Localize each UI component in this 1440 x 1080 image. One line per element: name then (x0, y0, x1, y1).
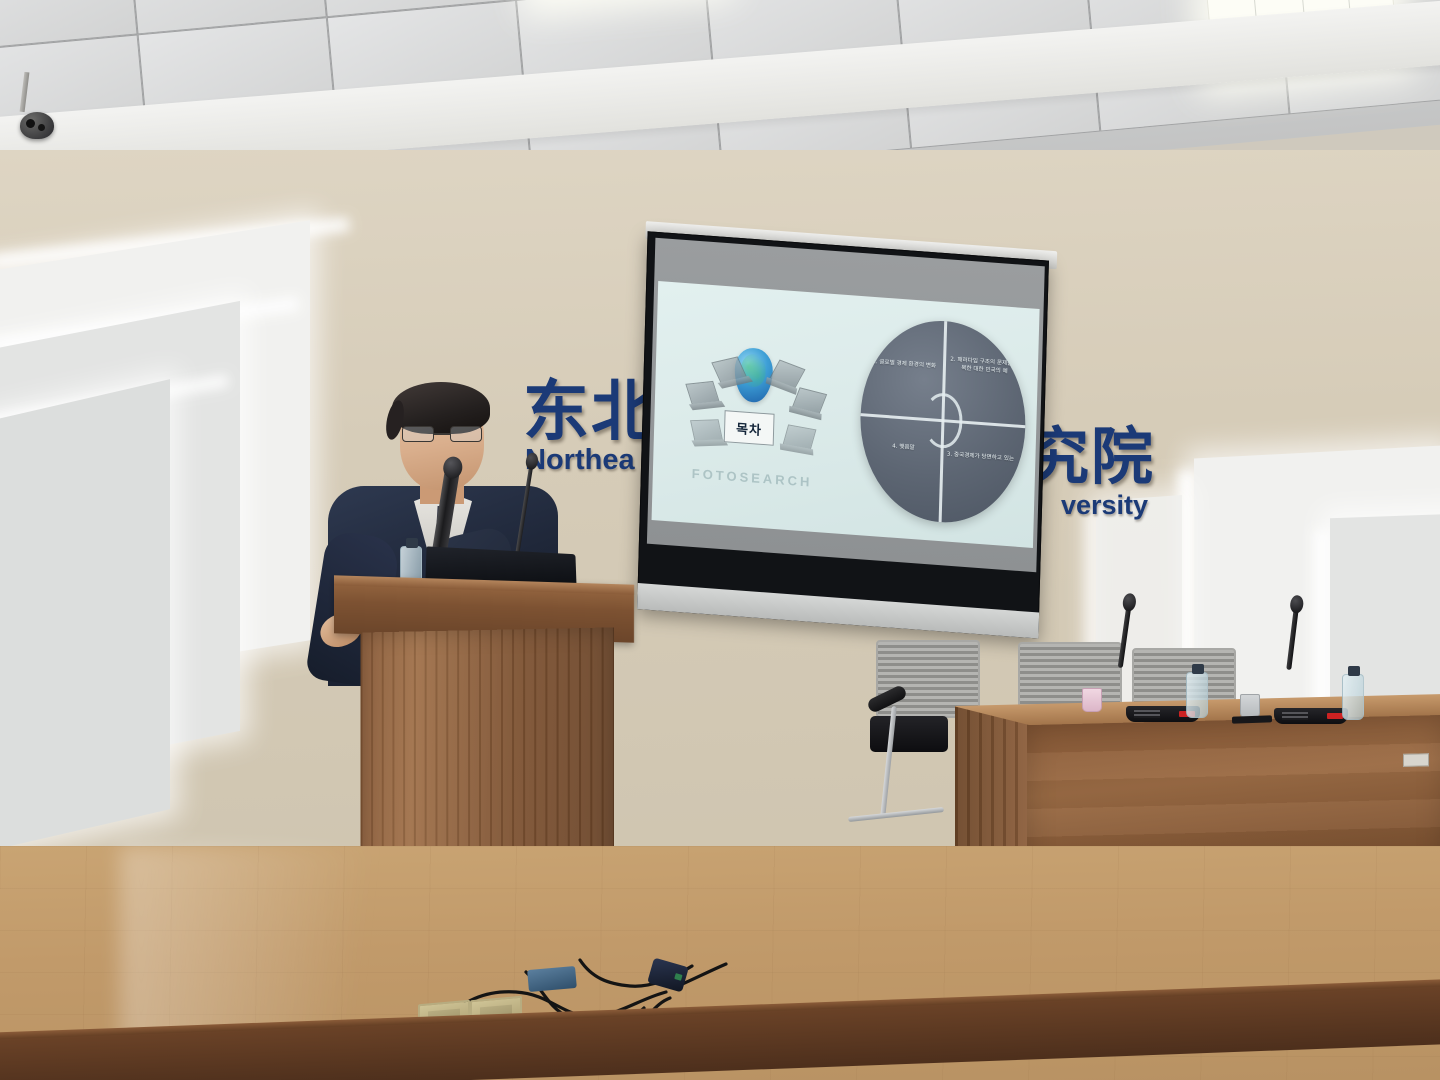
water-bottle (1186, 672, 1208, 718)
wheel-quadrant-top-left: 1. 글로벌 경제 환경의 변화 (869, 358, 940, 371)
wall-sign-roman-right: versity (1061, 490, 1148, 521)
eyeglasses-icon (402, 426, 482, 443)
gray-cup (1240, 694, 1260, 718)
lecture-hall-scene: 东北 Northea 究院 versity 목차 FOTOSEARCH (0, 0, 1440, 1080)
laptop-icon (769, 360, 806, 390)
wheel-quadrant-bottom-right: 3. 중국경제가 당면하고 있는 (945, 450, 1016, 463)
microphone-base (1274, 708, 1348, 724)
water-bottle (1342, 674, 1364, 720)
four-quadrant-wheel-diagram: 1. 글로벌 경제 환경의 변화 2. 패러다임 구조의 문제를 극복한 대한 … (858, 315, 1028, 528)
slide-watermark: FOTOSEARCH (679, 464, 824, 490)
toc-label-text: 목차 (736, 418, 762, 439)
toc-label-box: 목차 (724, 410, 774, 446)
power-adapter (527, 966, 577, 992)
laptop-icon (783, 424, 817, 450)
slide-network-graphic: 목차 FOTOSEARCH (680, 340, 829, 484)
table-label-plate (1403, 753, 1429, 767)
wheel-hub-icon (922, 392, 963, 449)
wall-panel-inner (0, 379, 170, 867)
laptop-icon (792, 387, 828, 415)
wheel-quadrant-top-right: 2. 패러다임 구조의 문제를 극복한 대한 민국의 예 (949, 356, 1020, 377)
pink-cup (1082, 688, 1102, 712)
remote-control (1232, 715, 1272, 723)
wheel-quadrant-bottom-left: 4. 맺음말 (868, 440, 939, 453)
chair-seat (870, 716, 948, 752)
laptop-icon (685, 380, 720, 405)
security-camera-icon (20, 112, 54, 139)
projected-slide: 목차 FOTOSEARCH 1. 글로벌 경제 환경의 변화 2. 패러다임 구… (652, 281, 1040, 548)
laptop-icon (690, 419, 723, 442)
projection-screen: 목차 FOTOSEARCH 1. 글로벌 경제 환경의 변화 2. 패러다임 구… (635, 225, 1055, 645)
